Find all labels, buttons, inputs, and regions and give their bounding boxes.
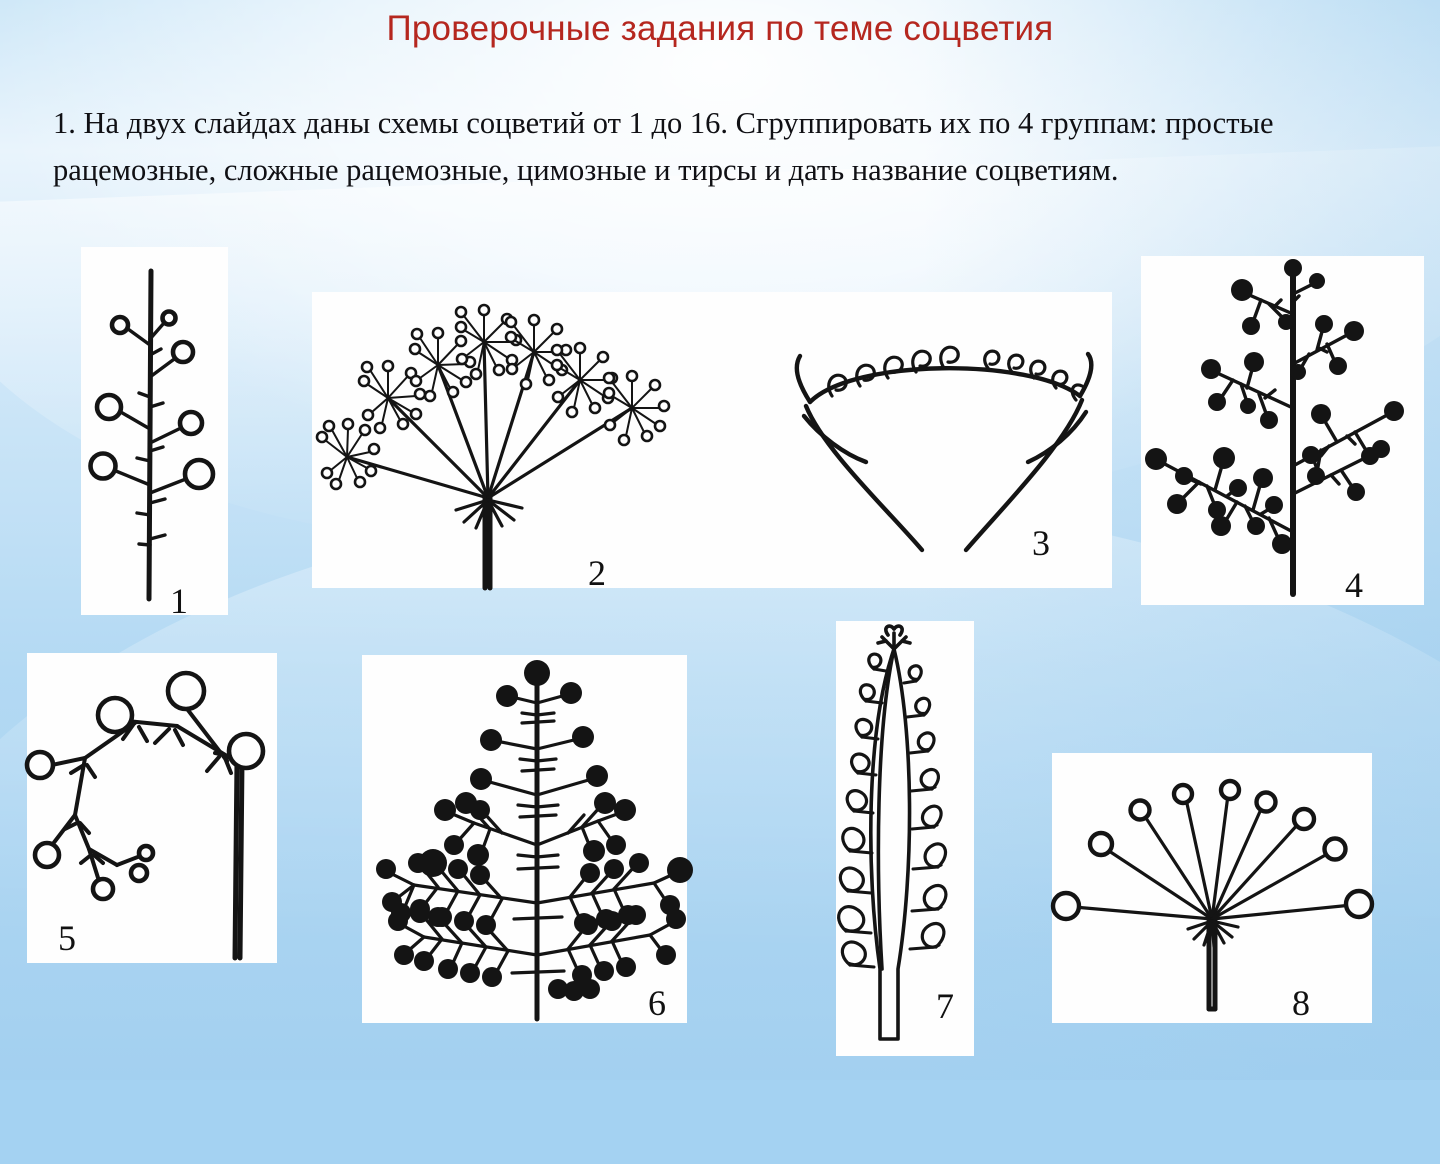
- page-title: Проверочные задания по теме соцветия: [0, 9, 1440, 49]
- figure-panel-4: [1141, 256, 1424, 605]
- umbellet-group: [317, 305, 669, 489]
- inflorescence-diagram-monochasium: [27, 653, 277, 963]
- inflorescence-diagram-capitulum: [780, 350, 1110, 570]
- figure-panel-8: [1052, 753, 1372, 1023]
- figure-wrap-2: [312, 292, 672, 588]
- figure-wrap-3: [780, 350, 1110, 570]
- inflorescence-diagram-simple-umbel: [1052, 753, 1372, 1023]
- figure-number-2: 2: [588, 555, 606, 591]
- inflorescence-diagram-raceme: [81, 247, 228, 615]
- inflorescence-diagram-thyrse: [362, 655, 687, 1023]
- figure-panel-5: [27, 653, 277, 963]
- figure-number-5: 5: [58, 920, 76, 956]
- figure-number-8: 8: [1292, 985, 1310, 1021]
- figure-panel-6: [362, 655, 687, 1023]
- inflorescence-diagram-compound-umbel: [312, 292, 672, 588]
- figure-number-4: 4: [1345, 567, 1363, 603]
- figure-number-1: 1: [170, 583, 188, 619]
- figure-number-3: 3: [1032, 525, 1050, 561]
- figure-panel-1: [81, 247, 228, 615]
- figure-number-7: 7: [936, 988, 954, 1024]
- task-instruction-text: 1. На двух слайдах даны схемы соцветий о…: [53, 100, 1389, 194]
- inflorescence-diagram-panicle: [1141, 256, 1424, 605]
- figure-number-6: 6: [648, 985, 666, 1021]
